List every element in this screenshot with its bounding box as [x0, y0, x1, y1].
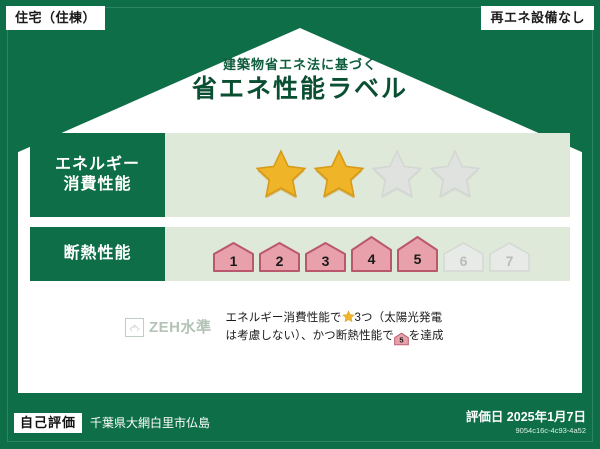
- insulation-level-number: 3: [304, 254, 347, 268]
- zeh-standard-block: ZEH水準 エネルギー消費性能で3つ（太陽光発電 は考慮しない）、かつ断熱性能で…: [30, 310, 570, 346]
- insulation-level-number: 4: [350, 252, 393, 266]
- insulation-level-badge-2: 2: [258, 241, 301, 273]
- renewable-equipment-tag: 再エネ設備なし: [481, 6, 594, 30]
- footer-left-group: 自己評価 千葉県大網白里市仏島: [14, 413, 466, 433]
- label-subtitle: 建築物省エネ法に基づく: [0, 58, 600, 71]
- star-empty-icon: [427, 148, 483, 202]
- svg-text:5: 5: [399, 336, 403, 345]
- energy-performance-row: エネルギー 消費性能: [30, 133, 570, 217]
- insulation-level-number: 1: [212, 254, 255, 268]
- zeh-desc-line2-post: を達成: [409, 330, 444, 342]
- insulation-level-number: 6: [442, 254, 485, 268]
- insulation-performance-value: 1234567: [165, 227, 570, 281]
- star-rating: [253, 148, 483, 202]
- evaluation-id: 9054c16c-4c93-4a52: [466, 426, 586, 435]
- star-empty-icon: [369, 148, 425, 202]
- insulation-level-badge-1: 1: [212, 241, 255, 273]
- inline-level5-badge: 5: [394, 331, 409, 345]
- zeh-description: エネルギー消費性能で3つ（太陽光発電 は考慮しない）、かつ断熱性能で5を達成: [226, 310, 570, 346]
- star-filled-icon: [253, 148, 309, 202]
- insulation-level-scale: 1234567: [212, 235, 531, 273]
- zeh-label: ZEH水準: [149, 320, 212, 335]
- energy-label-line1: エネルギー: [55, 155, 140, 175]
- insulation-level-badge-7: 7: [488, 241, 531, 273]
- energy-label-root: 住宅（住棟） 再エネ設備なし 建築物省エネ法に基づく 省エネ性能ラベル エネルギ…: [0, 0, 600, 449]
- zeh-desc-line1-pre: エネルギー消費性能で: [226, 312, 342, 324]
- zeh-desc-line1-post: 3つ（太陽光発電: [355, 312, 443, 324]
- energy-label-line2: 消費性能: [63, 175, 131, 195]
- self-evaluation-badge: 自己評価: [14, 413, 82, 433]
- footer-right-group: 評価日 2025年1月7日 9054c16c-4c93-4a52: [466, 411, 586, 435]
- insulation-level-number: 5: [396, 252, 439, 266]
- energy-performance-value: [165, 133, 570, 217]
- insulation-level-badge-6: 6: [442, 241, 485, 273]
- inline-star-icon: [342, 310, 355, 323]
- building-type-tag: 住宅（住棟）: [6, 6, 105, 30]
- zeh-house-icon: [125, 318, 144, 337]
- property-address: 千葉県大網白里市仏島: [90, 417, 210, 429]
- insulation-level-number: 7: [488, 254, 531, 268]
- heading-group: 建築物省エネ法に基づく 省エネ性能ラベル: [0, 58, 600, 102]
- energy-performance-label: エネルギー 消費性能: [30, 133, 165, 217]
- insulation-level-badge-3: 3: [304, 241, 347, 273]
- evaluation-date: 評価日 2025年1月7日: [466, 411, 586, 425]
- zeh-badge: ZEH水準: [125, 318, 212, 337]
- zeh-desc-line2-pre: は考慮しない）、かつ断熱性能で: [226, 330, 394, 342]
- label-title: 省エネ性能ラベル: [0, 77, 600, 102]
- insulation-performance-row: 断熱性能 1234567: [30, 227, 570, 281]
- insulation-label-line1: 断熱性能: [63, 244, 131, 264]
- star-filled-icon: [311, 148, 367, 202]
- insulation-performance-label: 断熱性能: [30, 227, 165, 281]
- insulation-level-badge-5: 5: [396, 235, 439, 273]
- insulation-level-badge-4: 4: [350, 235, 393, 273]
- label-footer: 自己評価 千葉県大網白里市仏島 評価日 2025年1月7日 9054c16c-4…: [14, 407, 586, 439]
- insulation-level-number: 2: [258, 254, 301, 268]
